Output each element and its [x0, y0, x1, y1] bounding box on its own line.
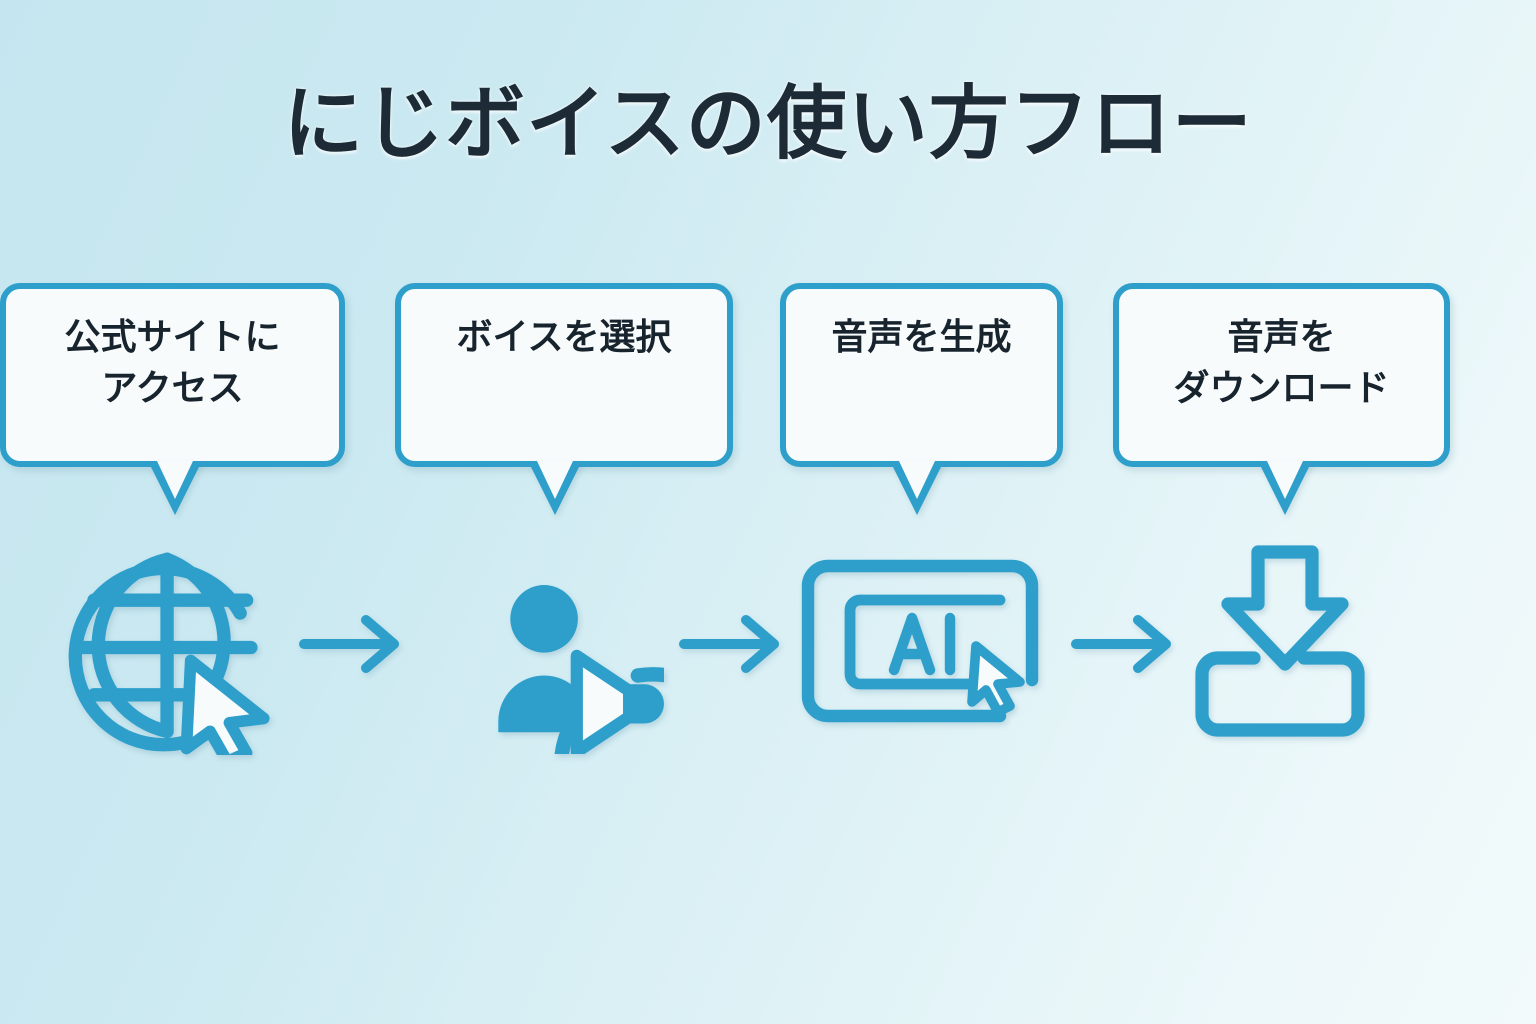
arrow-right-icon — [1070, 604, 1180, 684]
person-head-icon — [510, 585, 578, 653]
cursor-arrow-icon — [186, 660, 263, 755]
globe-cursor-icon — [66, 540, 281, 755]
callout-step-2: ボイスを選択 — [395, 283, 733, 467]
arrow-right-icon — [298, 604, 408, 684]
callout-step-3-tail — [890, 461, 944, 515]
cursor-arrow-icon — [972, 646, 1020, 712]
step-4-icon-download-tray — [1190, 540, 1380, 740]
step-3-icon-ai-card-cursor — [800, 556, 1040, 736]
callout-step-1-tail — [148, 461, 202, 515]
callout-step-2-tail — [528, 461, 582, 515]
download-tray-icon — [1190, 540, 1380, 740]
person-speaker-icon — [446, 536, 664, 754]
callout-step-3-label: 音声を生成 — [831, 289, 1011, 362]
callout-step-1: 公式サイトに アクセス — [0, 283, 345, 467]
step-1-icon-globe-cursor — [66, 540, 281, 755]
callout-step-4: 音声を ダウンロード — [1113, 283, 1450, 467]
flow-diagram-canvas: にじボイスの使い方フロー 公式サイトに アクセス — [0, 0, 1536, 1024]
callout-step-2-label: ボイスを選択 — [457, 289, 672, 362]
arrow-step-3-to-4 — [1070, 604, 1180, 684]
step-2-icon-person-speaker — [446, 536, 664, 754]
ai-letters-icon — [894, 618, 950, 670]
ai-card-cursor-icon — [800, 556, 1040, 736]
callout-step-4-label: 音声を ダウンロード — [1173, 289, 1389, 413]
arrow-step-1-to-2 — [298, 604, 408, 684]
callout-step-4-tail — [1258, 461, 1312, 515]
callout-step-1-label: 公式サイトに アクセス — [64, 289, 280, 413]
arrow-right-icon — [678, 604, 788, 684]
page-title: にじボイスの使い方フロー — [0, 82, 1536, 166]
arrow-step-2-to-3 — [678, 604, 788, 684]
callout-step-3: 音声を生成 — [780, 283, 1063, 467]
